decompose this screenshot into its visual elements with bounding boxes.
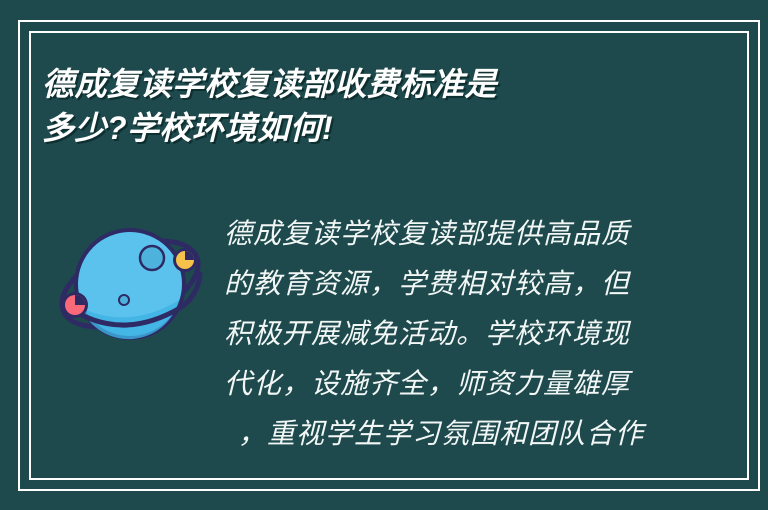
planet-crater-small xyxy=(119,295,129,305)
orb-yellow xyxy=(173,248,197,272)
planet-crater-large xyxy=(140,246,164,270)
title-line-1: 德成复读学校复读部收费标准是 xyxy=(42,62,662,106)
orb-pink xyxy=(62,292,88,318)
page-title: 德成复读学校复读部收费标准是 多少?学校环境如何! xyxy=(42,62,662,150)
body-line-4: 代化，设施齐全，师资力量雄厚 xyxy=(224,360,656,410)
body-line-3: 积极开展减免活动。学校环境现 xyxy=(224,310,656,360)
body-line-5: ，重视学生学习氛围和团队合作 xyxy=(224,410,656,460)
body-text: 德成复读学校复读部提供高品质 的教育资源，学费相对较高，但 积极开展减免活动。学… xyxy=(224,210,656,460)
title-line-2: 多少?学校环境如何! xyxy=(42,106,662,150)
planet-illustration xyxy=(48,212,213,357)
poster-canvas: 德成复读学校复读部收费标准是 多少?学校环境如何! xyxy=(0,0,768,510)
body-line-1: 德成复读学校复读部提供高品质 xyxy=(224,210,656,260)
body-line-2: 的教育资源，学费相对较高，但 xyxy=(224,260,656,310)
